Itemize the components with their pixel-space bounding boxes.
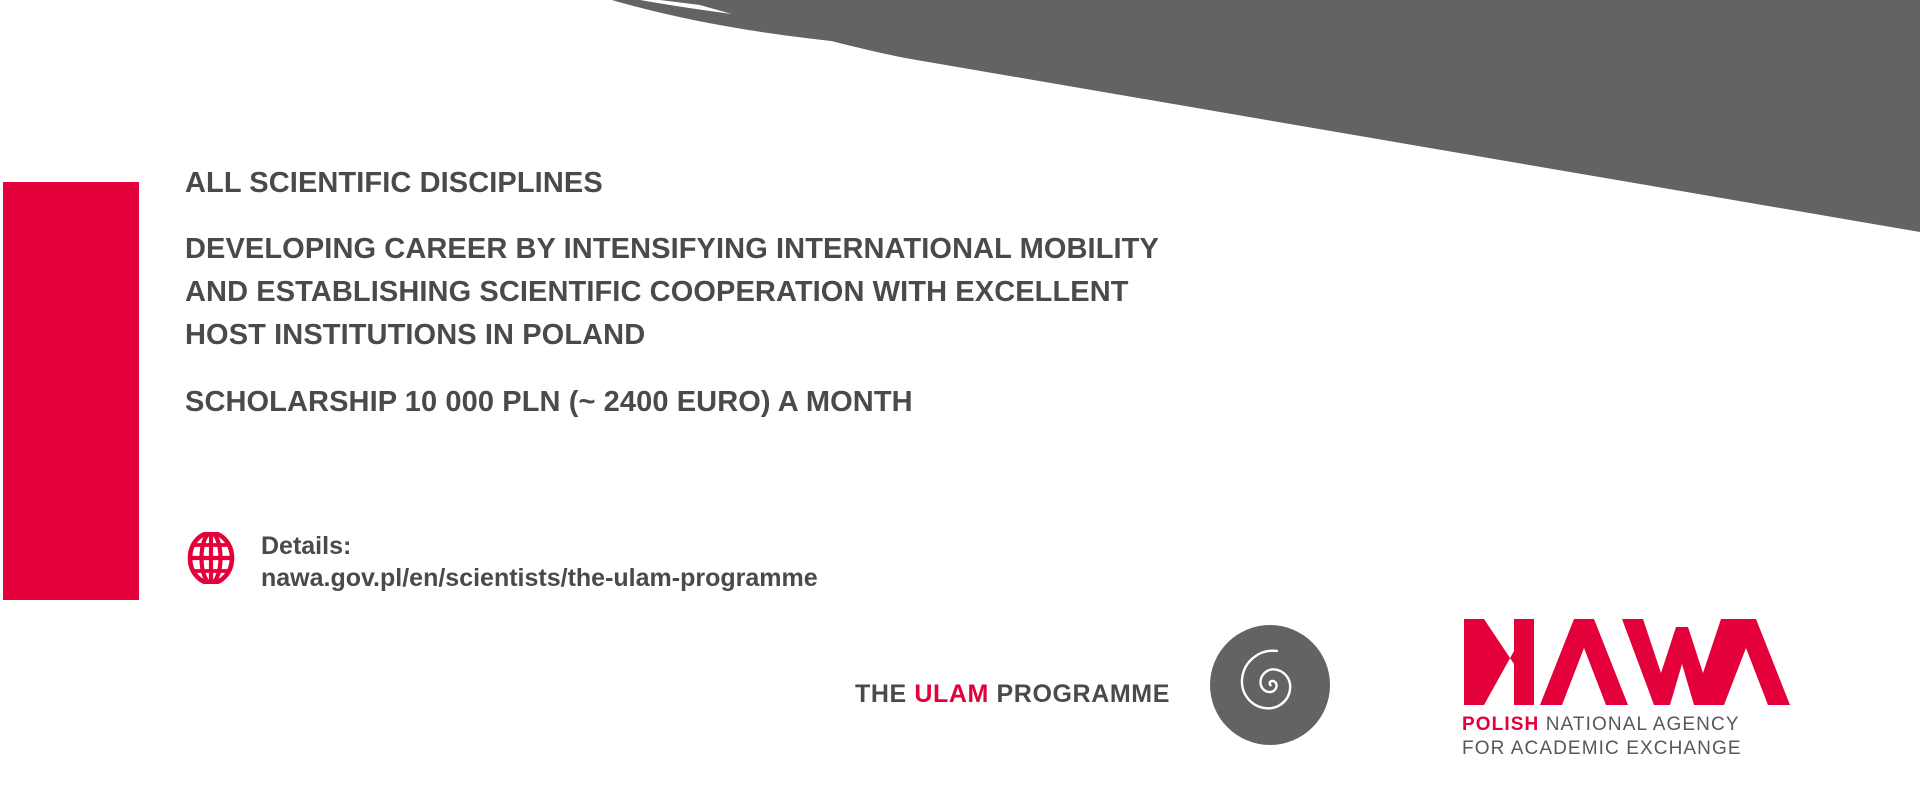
swoosh-crescent-shape	[612, 0, 1320, 49]
description-paragraph: DEVELOPING CAREER BY INTENSIFYING INTERN…	[185, 228, 1485, 357]
letter-n	[1464, 619, 1534, 705]
details-url[interactable]: nawa.gov.pl/en/scientists/the-ulam-progr…	[261, 562, 818, 594]
description-line-3: HOST INSTITUTIONS IN POLAND	[185, 314, 1485, 357]
description-line-2: AND ESTABLISHING SCIENTIFIC COOPERATION …	[185, 271, 1485, 314]
description-line-1: DEVELOPING CAREER BY INTENSIFYING INTERN…	[185, 228, 1485, 271]
nawa-tagline-highlight: POLISH	[1462, 714, 1539, 735]
details-label: Details:	[261, 530, 818, 562]
red-accent-bar	[3, 182, 139, 600]
globe-icon	[185, 532, 237, 584]
nawa-tagline-line-2: FOR ACADEMIC EXCHANGE	[1462, 737, 1792, 761]
nawa-wordmark	[1462, 617, 1792, 707]
details-text: Details: nawa.gov.pl/en/scientists/the-u…	[261, 530, 818, 594]
nawa-tagline: POLISH NATIONAL AGENCY FOR ACADEMIC EXCH…	[1462, 713, 1792, 761]
scholarship-amount: SCHOLARSHIP 10 000 PLN (~ 2400 EURO) A M…	[185, 387, 1505, 417]
programme-label-highlight: ULAM	[914, 680, 989, 708]
headline: ALL SCIENTIFIC DISCIPLINES	[185, 168, 1505, 198]
spiral-icon	[1205, 620, 1335, 750]
programme-label-suffix: PROGRAMME	[989, 680, 1170, 708]
programme-label: THE ULAM PROGRAMME	[855, 680, 1170, 709]
details-row: Details: nawa.gov.pl/en/scientists/the-u…	[185, 530, 818, 594]
programme-label-prefix: THE	[855, 680, 914, 708]
poster-canvas: ALL SCIENTIFIC DISCIPLINES DEVELOPING CA…	[0, 0, 1920, 810]
nawa-tagline-line-1: POLISH NATIONAL AGENCY	[1462, 713, 1792, 737]
nawa-tagline-line-1-rest: NATIONAL AGENCY	[1539, 714, 1739, 735]
nawa-logo: POLISH NATIONAL AGENCY FOR ACADEMIC EXCH…	[1462, 617, 1792, 761]
letter-a-1	[1540, 619, 1628, 705]
poster-content: ALL SCIENTIFIC DISCIPLINES DEVELOPING CA…	[185, 168, 1505, 418]
